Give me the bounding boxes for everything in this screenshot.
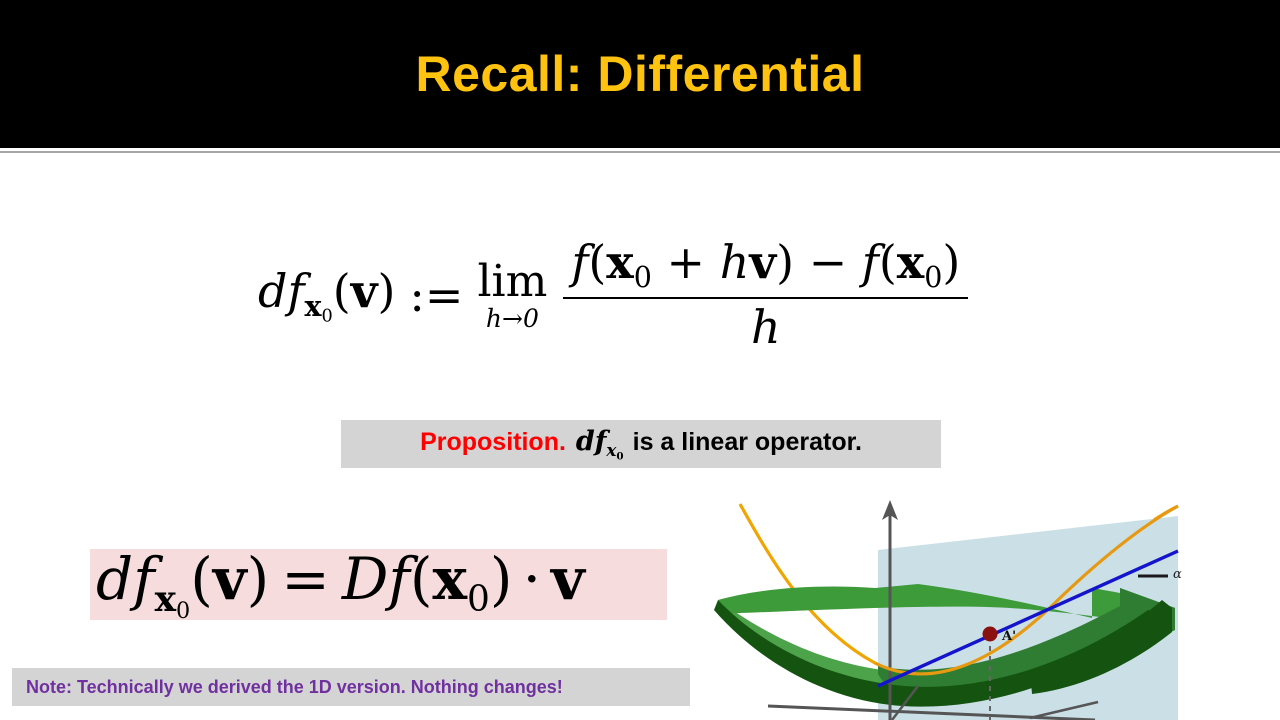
result-paren-close2: ) [490,545,513,613]
title-bar: Recall: Differential [0,0,1280,148]
proposition-statement: is a linear operator. [633,428,862,457]
result-vector-v2: v [551,545,585,613]
result-sub-index: 0 [176,598,190,624]
result-equals: = [281,545,330,613]
note-banner: Note: Technically we derived the 1D vers… [12,668,690,706]
proposition-math-df: df [576,426,607,457]
formula-subscript-index: 0 [322,307,333,327]
proposition-math-expression: dfx0 [576,426,624,462]
differential-result-formula: dfx0(v)=Df(x0)·v [96,545,585,624]
formula-left-hand-side: dfx0(v) [258,264,395,327]
proposition-math-sub-x: x [606,440,616,460]
result-sub-index2: 0 [467,579,490,620]
formula-f: f [287,264,304,318]
limit-operator: lim h→0 [477,260,547,331]
result-sub-x: x [155,578,176,620]
result-f: f [133,545,154,613]
result-D: D [342,545,389,613]
num-f2: f [862,235,879,289]
formula-vector-v: v [351,264,378,318]
formula-assign-symbol: := [409,268,463,322]
limit-word: lim [477,260,547,304]
result-paren-open2: ( [410,545,433,613]
result-vector-v: v [213,545,247,613]
result-d: d [96,545,133,613]
result-f2: f [388,545,409,613]
formula-subscript-x: x [304,289,321,323]
title-divider [0,150,1280,155]
result-dot-product: · [523,545,541,613]
result-paren-open: ( [190,545,213,613]
result-paren-close: ) [247,545,270,613]
limit-condition: h→0 [486,306,539,331]
formula-paren-open: ( [333,264,351,318]
fraction-denominator: h [751,299,781,353]
proposition-banner: Proposition. dfx0 is a linear operator. [341,420,941,468]
fraction-numerator: f(x0 + hv) − f(x0) [563,238,968,297]
formula-paren-close: ) [377,264,395,318]
tangent-plane-figure: α A' [700,488,1280,720]
differential-definition-formula: dfx0(v) := lim h→0 f(x0 + hv) − f(x0) h [258,238,968,353]
tangency-point [983,627,998,642]
difference-quotient: f(x0 + hv) − f(x0) h [563,238,968,353]
page-title: Recall: Differential [0,0,1280,148]
proposition-math-sub-index: 0 [616,450,623,462]
proposition-label: Proposition. [420,428,566,457]
formula-d: d [258,264,287,318]
tangency-point-label: A' [1001,629,1016,644]
num-f1: f [571,235,588,289]
result-sub-x2: x [432,545,467,613]
angle-alpha-label: α [1173,567,1182,582]
proposition-content: Proposition. dfx0 is a linear operator. [420,426,862,462]
note-text: Note: Technically we derived the 1D vers… [12,677,563,698]
